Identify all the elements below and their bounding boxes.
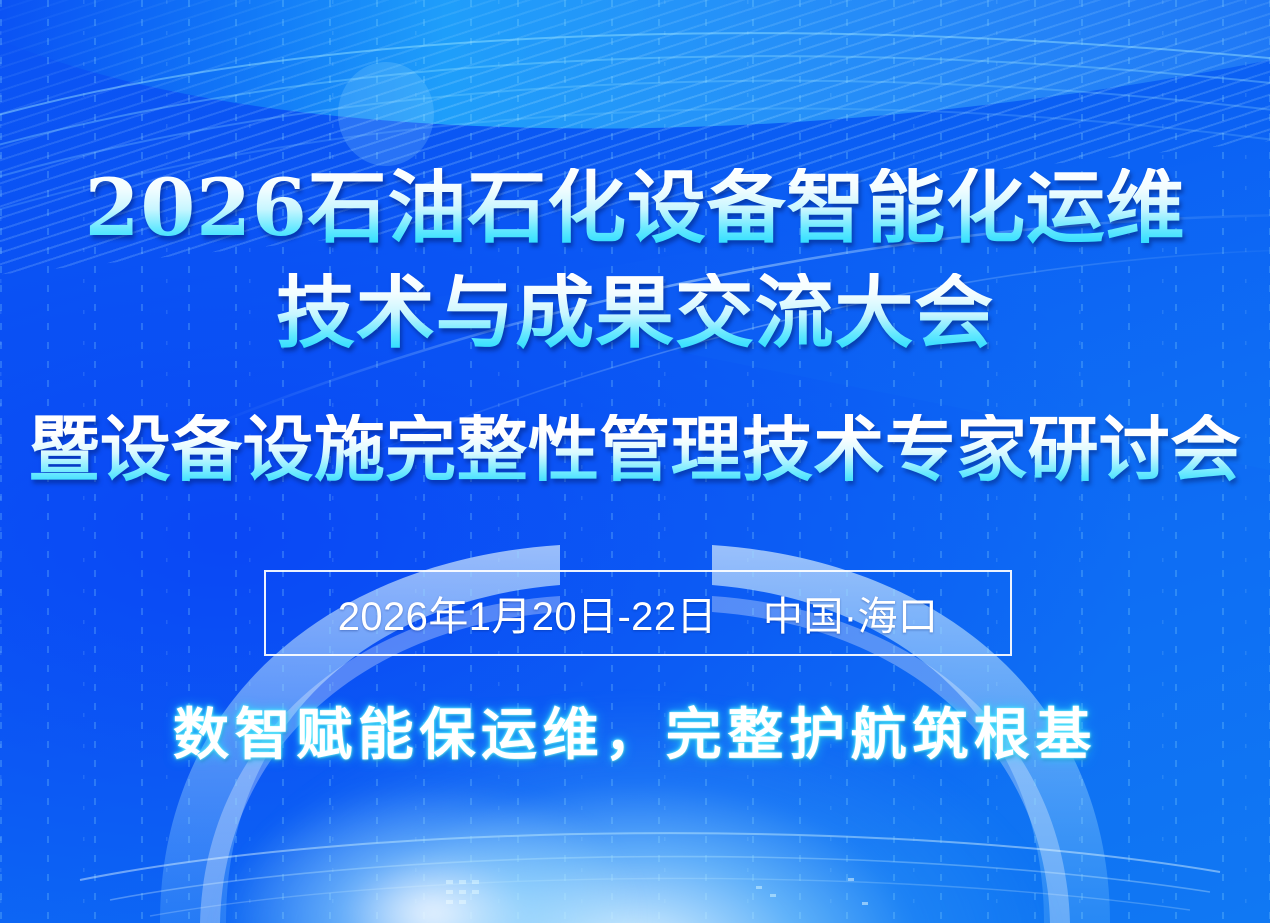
subtitle: 暨设备设施完整性管理技术专家研讨会 (0, 414, 1270, 485)
conference-poster: 2026石油石化设备智能化运维 技术与成果交流大会 暨设备设施完整性管理技术专家… (0, 0, 1270, 923)
title-line-2: 技术与成果交流大会 (0, 273, 1270, 352)
main-title: 2026石油石化设备智能化运维 技术与成果交流大会 (0, 168, 1270, 352)
date-location-box: 2026年1月20日-22日 中国·海口 (264, 570, 1012, 656)
poster-content: 2026石油石化设备智能化运维 技术与成果交流大会 暨设备设施完整性管理技术专家… (0, 0, 1270, 923)
date-location-text: 2026年1月20日-22日 中国·海口 (338, 584, 939, 642)
slogan: 数智赋能保运维，完整护航筑根基 (0, 690, 1270, 771)
title-line-1: 2026石油石化设备智能化运维 (0, 168, 1270, 247)
